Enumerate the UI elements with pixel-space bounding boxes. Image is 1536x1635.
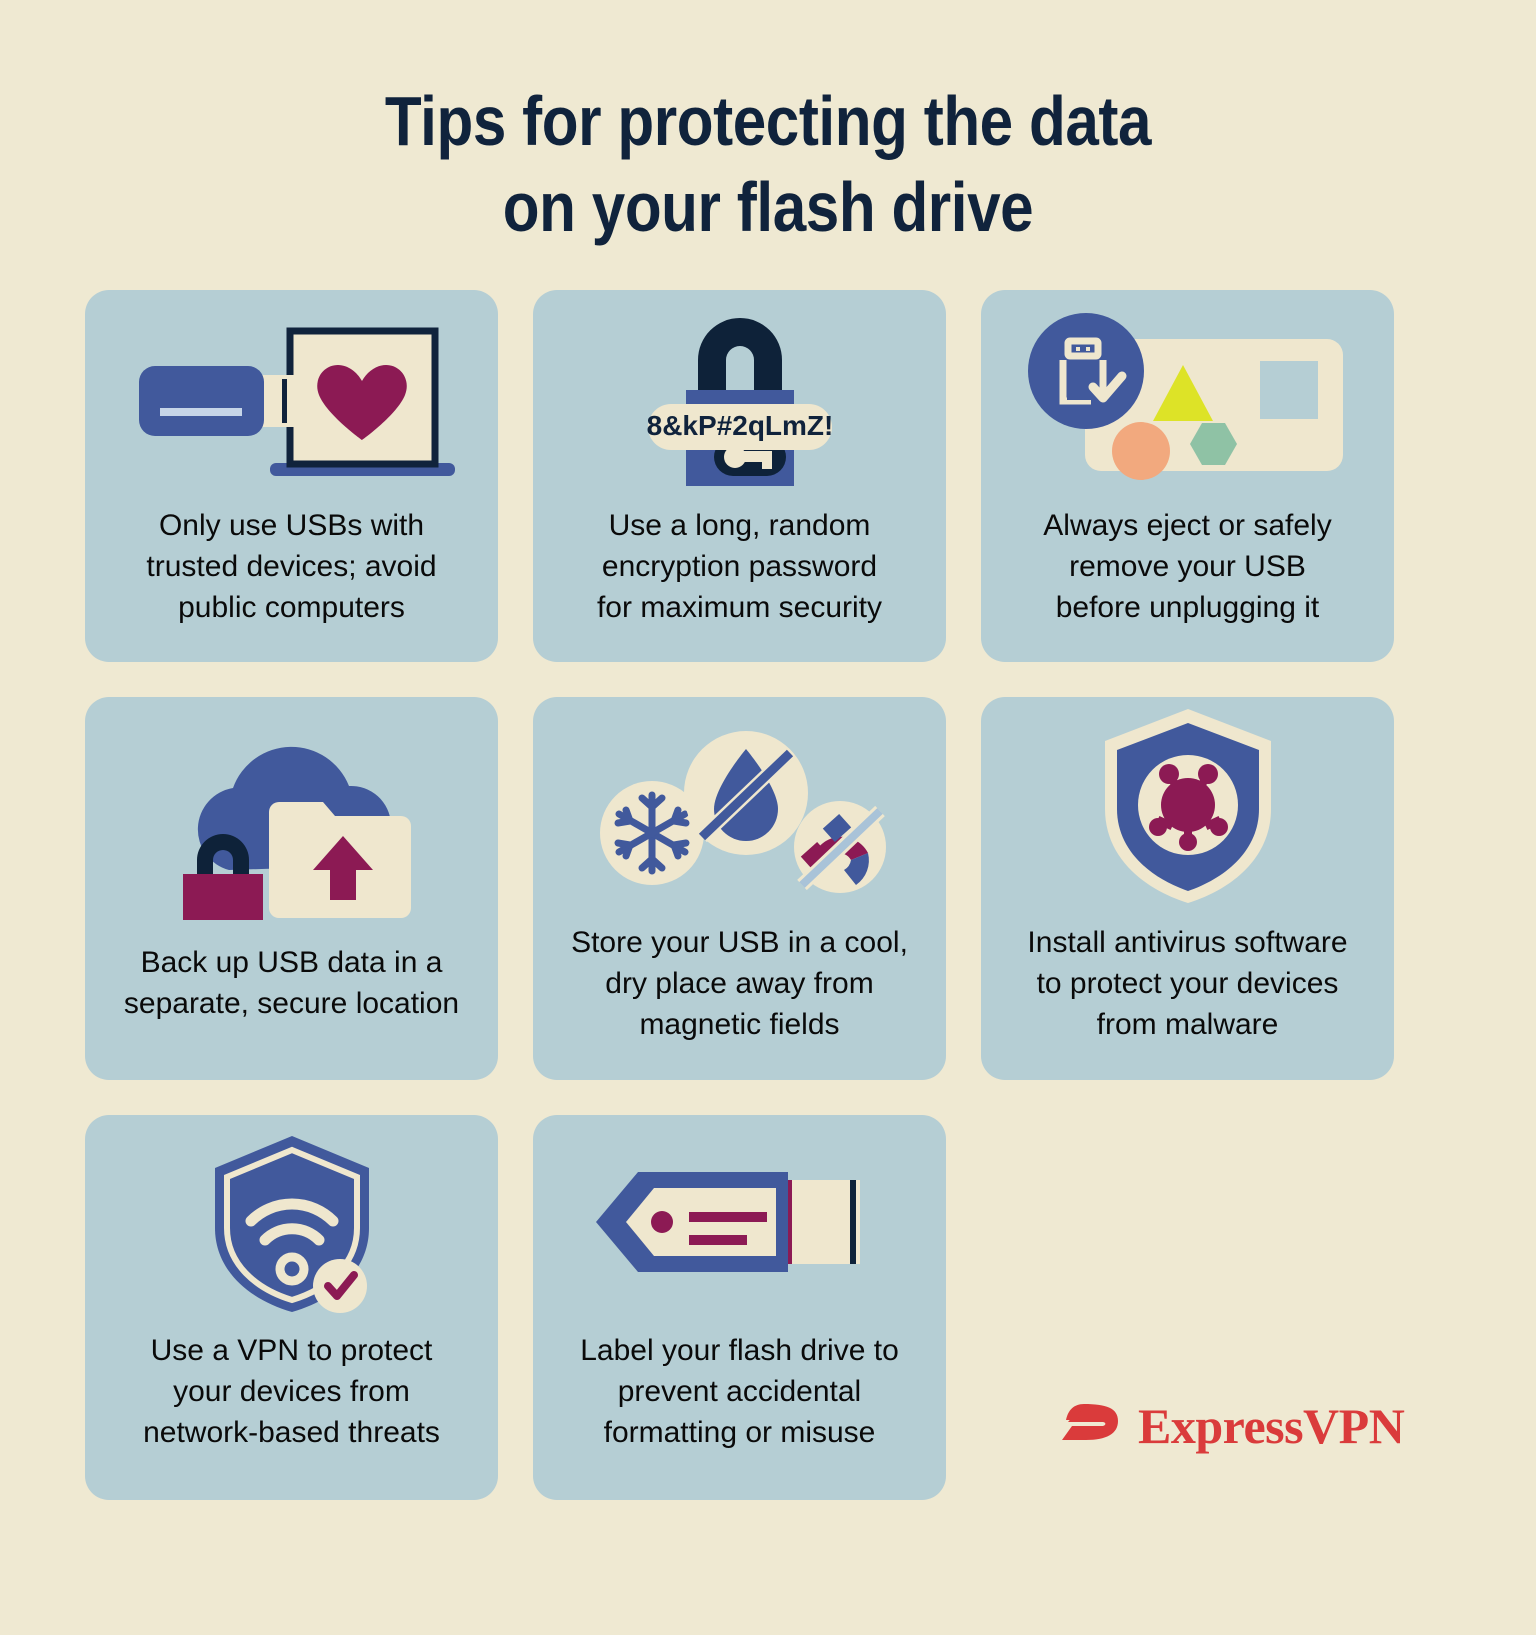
label-tag-usb-icon [533, 1115, 946, 1330]
tips-grid-row-1: Only use USBs with trusted devices; avoi… [85, 290, 1395, 662]
tip-card-install-antivirus[interactable]: Install antivirus software to protect yo… [981, 697, 1394, 1080]
padlock-password-icon: 8&kP#2qLmZ! [533, 290, 946, 505]
usb-eject-safely-icon [981, 290, 1394, 505]
tip-card-cool-dry-place[interactable]: Store your USB in a cool, dry place away… [533, 697, 946, 1080]
tip-card-usb-trusted-devices[interactable]: Only use USBs with trusted devices; avoi… [85, 290, 498, 662]
page-title: Tips for protecting the data on your fla… [108, 78, 1429, 250]
password-pill-text: 8&kP#2qLmZ! [646, 410, 833, 441]
vpn-shield-wifi-icon [85, 1115, 498, 1330]
tip-card-text: Back up USB data in a separate, secure l… [96, 942, 487, 1024]
tip-card-text: Store your USB in a cool, dry place away… [543, 922, 936, 1045]
cool-dry-no-magnet-icon [533, 697, 946, 912]
tip-card-text: Install antivirus software to protect yo… [999, 922, 1375, 1045]
expressvpn-logo-mark [1062, 1400, 1124, 1452]
expressvpn-wordmark: ExpressVPN [1138, 1401, 1404, 1451]
expressvpn-logo[interactable]: ExpressVPN [1062, 1400, 1404, 1452]
tip-card-backup-separate-location[interactable]: Back up USB data in a separate, secure l… [85, 697, 498, 1080]
tip-card-text: Label your flash drive to prevent accide… [552, 1330, 927, 1453]
antivirus-shield-icon [981, 697, 1394, 912]
tip-card-label-flash-drive[interactable]: Label your flash drive to prevent accide… [533, 1115, 946, 1500]
tip-card-encryption-password[interactable]: 8&kP#2qLmZ! Use a long, random encryptio… [533, 290, 946, 662]
tip-card-eject-safely[interactable]: Always eject or safely remove your USB b… [981, 290, 1394, 662]
tips-grid-row-2: Back up USB data in a separate, secure l… [85, 697, 1395, 1080]
tip-card-text: Use a VPN to protect your devices from n… [115, 1330, 468, 1453]
tip-card-text: Only use USBs with trusted devices; avoi… [118, 505, 464, 628]
tip-card-text: Use a long, random encryption password f… [569, 505, 910, 628]
usb-laptop-heart-icon [85, 290, 498, 505]
tip-card-use-vpn[interactable]: Use a VPN to protect your devices from n… [85, 1115, 498, 1500]
tip-card-text: Always eject or safely remove your USB b… [1015, 505, 1359, 628]
infographic-page: Tips for protecting the data on your fla… [0, 0, 1536, 1635]
cloud-backup-lock-icon [85, 697, 498, 932]
